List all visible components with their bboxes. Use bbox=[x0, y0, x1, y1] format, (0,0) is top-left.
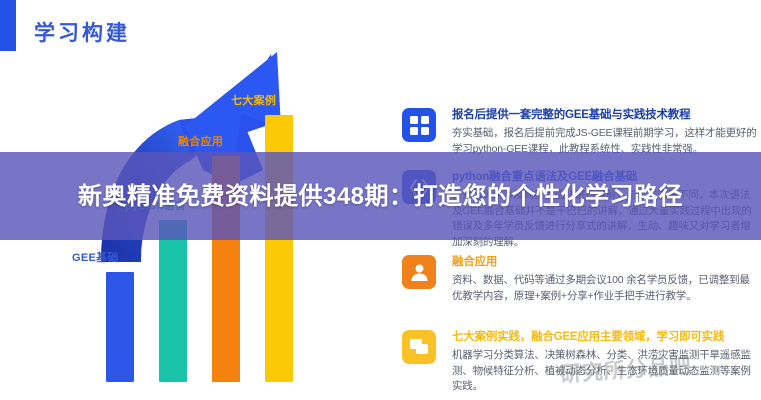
promo-graphic: 学习构建 GEE基础python语言融合应用七大案例 报名后提供一套完整的GEE… bbox=[0, 0, 761, 400]
bar-label-1: GEE基础 bbox=[72, 249, 119, 265]
feature-heading-1: 报名后提供一套完整的GEE基础与实践技术教程 bbox=[452, 108, 758, 123]
feature-heading-4: 七大案例实践，融合GEE应用主要领域，学习即可实践 bbox=[452, 330, 758, 345]
user-person-icon bbox=[402, 255, 436, 289]
bar-2 bbox=[159, 220, 187, 382]
feature-body-3: 融合应用资料、数据、代码等通过多期会议100 余名学员反馈，已调整到最优教学内容… bbox=[452, 255, 758, 304]
bar-label-4: 七大案例 bbox=[231, 92, 276, 108]
chat-windows-icon bbox=[402, 330, 436, 364]
feature-body-1: 报名后提供一套完整的GEE基础与实践技术教程夯实基础，报名后提前完成JS-GEE… bbox=[452, 108, 758, 157]
feature-heading-3: 融合应用 bbox=[452, 255, 758, 270]
bar-label-3: 融合应用 bbox=[178, 133, 223, 149]
bar-1 bbox=[106, 272, 134, 382]
banner-overlay-text: 新奥精准免费资料提供348期：打造您的个性化学习路径 bbox=[0, 152, 761, 240]
feature-text-3: 资料、数据、代码等通过多期会议100 余名学员反馈，已调整到最优教学内容，原理+… bbox=[452, 273, 758, 304]
grid-squares-icon bbox=[402, 108, 436, 142]
